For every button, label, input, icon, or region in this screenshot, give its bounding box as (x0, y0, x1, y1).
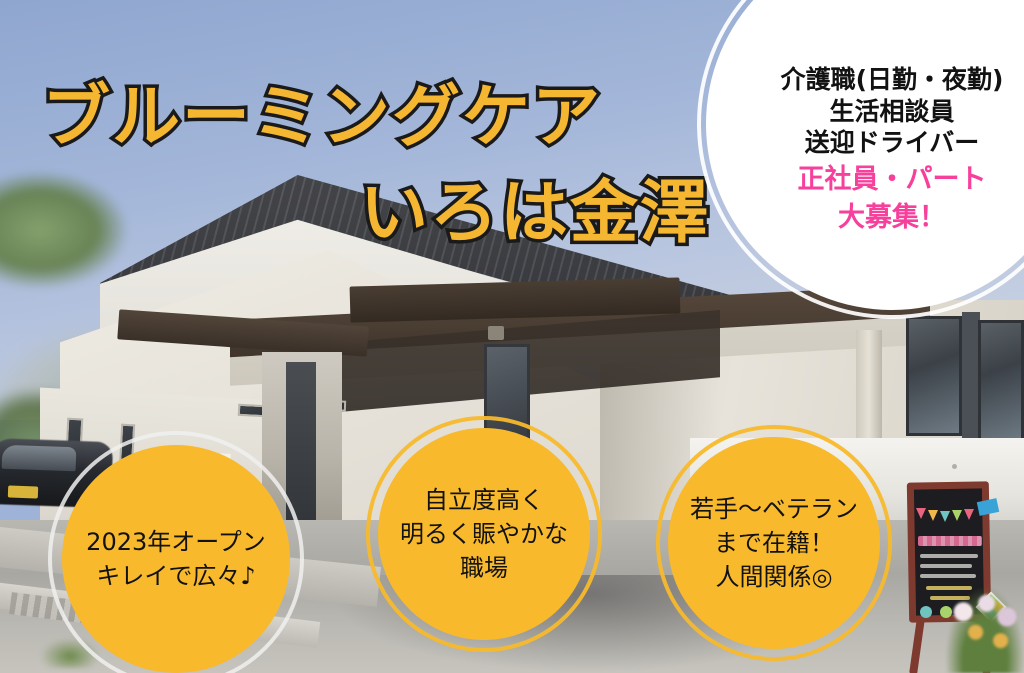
feature-1-line-0: 2023年オープン (86, 525, 266, 559)
feature-2-line-1: 明るく賑やかな (400, 517, 568, 551)
window-right-1 (906, 316, 962, 436)
recruitment-poster: ブルーミングケア いろは金澤 介護職(日勤・夜勤) 生活相談員 送迎ドライバー … (0, 0, 1024, 673)
tree-foliage-upper (0, 170, 130, 290)
feature-3-line-2: 人間関係◎ (716, 560, 833, 594)
page-title-line1: ブルーミングケア (42, 84, 602, 152)
recruit-employment-type: 正社員・パート (798, 163, 987, 198)
car-license-plate (8, 485, 38, 498)
feature-circle-open-2023: 2023年オープン キレイで広々♪ (62, 445, 290, 673)
flower-planter (946, 588, 1024, 673)
page-title-line2: いろは金澤 (360, 180, 710, 248)
feature-3-line-1: まで在籍！ (714, 526, 834, 560)
feature-circle-bright-workplace: 自立度高く 明るく賑やかな 職場 (378, 428, 590, 640)
feature-2-line-0: 自立度高く (424, 483, 544, 517)
roadside-weeds (40, 638, 100, 668)
feature-1-line-1: キレイで広々♪ (96, 559, 255, 593)
recruit-job-0: 介護職(日勤・夜勤) (781, 64, 1004, 96)
recruit-job-1: 生活相談員 (829, 96, 954, 128)
recruit-job-2: 送迎ドライバー (805, 127, 980, 159)
window-right-2 (978, 320, 1024, 444)
sign-bunting (916, 508, 982, 524)
wall-light-fixture (488, 326, 504, 340)
car-window (2, 445, 77, 472)
recruit-cta: 大募集！ (838, 201, 946, 236)
feature-3-line-0: 若手〜ベテラン (690, 492, 858, 526)
feature-circle-staff-range: 若手〜ベテラン まで在籍！ 人間関係◎ (668, 437, 880, 649)
sign-welcome-text (918, 536, 982, 546)
feature-2-line-2: 職場 (460, 551, 508, 585)
